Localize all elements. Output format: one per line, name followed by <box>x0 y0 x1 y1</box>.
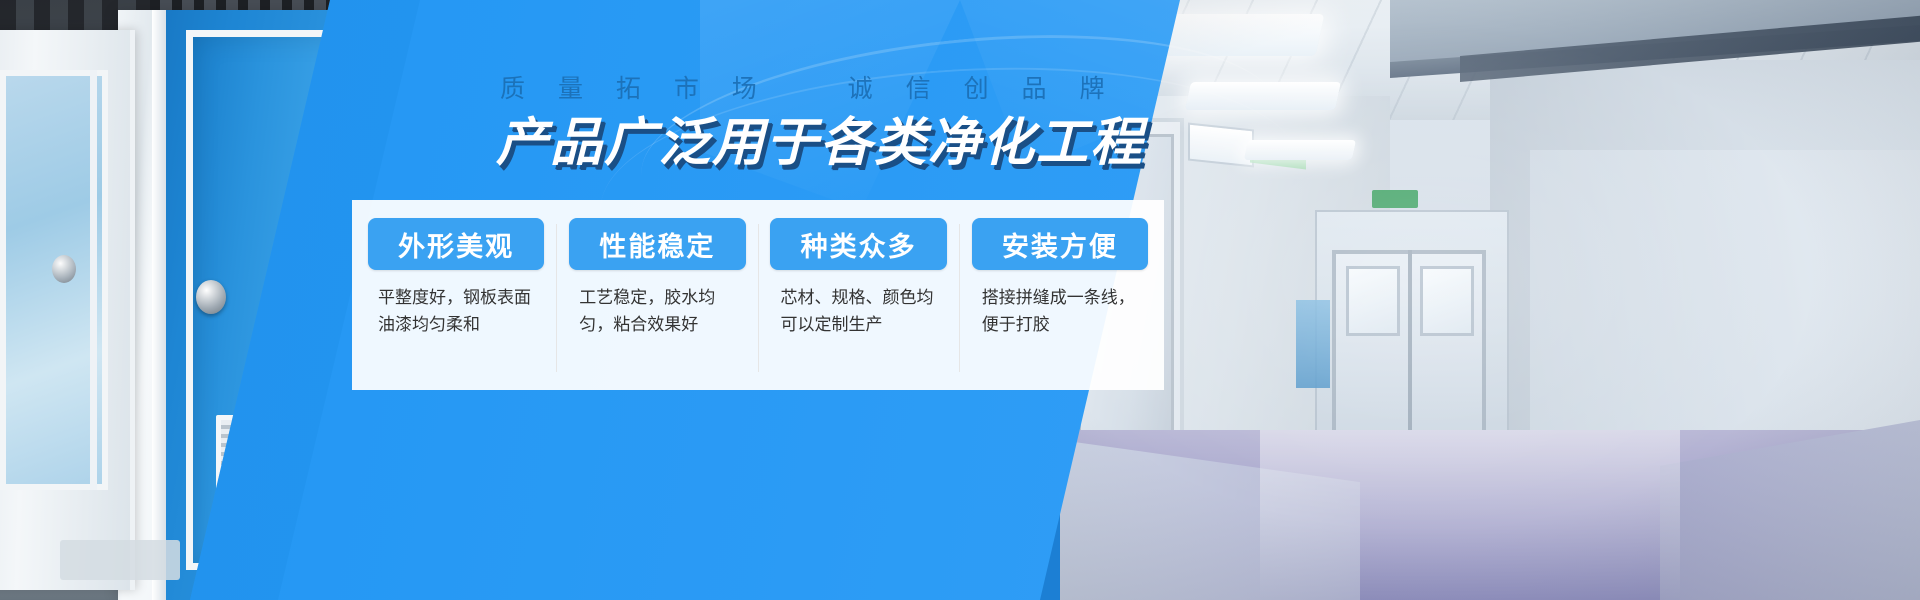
feature-card-title: 外形美观 <box>368 218 544 270</box>
feature-card-body: 芯材、规格、颜色均可以定制生产 <box>770 270 946 338</box>
promo-banner: 质 量 拓 市 场 诚 信 创 品 牌 产品广泛用于各类净化工程 外形美观 平整… <box>0 0 1920 600</box>
feature-cards-panel: 外形美观 平整度好，钢板表面油漆均匀柔和 性能稳定 工艺稳定，胶水均匀，粘合效果… <box>352 200 1164 390</box>
feature-card[interactable]: 安装方便 搭接拼缝成一条线，便于打胶 <box>972 218 1148 338</box>
banner-subtitle: 质 量 拓 市 场 诚 信 创 品 牌 <box>500 72 1140 106</box>
feature-card-body: 平整度好，钢板表面油漆均匀柔和 <box>368 270 544 338</box>
banner-headline: 产品广泛用于各类净化工程 <box>496 112 1196 174</box>
card-divider <box>959 224 960 372</box>
feature-card-title: 安装方便 <box>972 218 1148 270</box>
feature-card[interactable]: 性能稳定 工艺稳定，胶水均匀，粘合效果好 <box>569 218 745 338</box>
feature-card-body: 搭接拼缝成一条线，便于打胶 <box>972 270 1148 338</box>
card-divider <box>758 224 759 372</box>
feature-card-title: 种类众多 <box>770 218 946 270</box>
feature-card-title: 性能稳定 <box>569 218 745 270</box>
card-divider <box>556 224 557 372</box>
feature-card[interactable]: 种类众多 芯材、规格、颜色均可以定制生产 <box>770 218 946 338</box>
feature-card[interactable]: 外形美观 平整度好，钢板表面油漆均匀柔和 <box>368 218 544 338</box>
feature-card-body: 工艺稳定，胶水均匀，粘合效果好 <box>569 270 745 338</box>
